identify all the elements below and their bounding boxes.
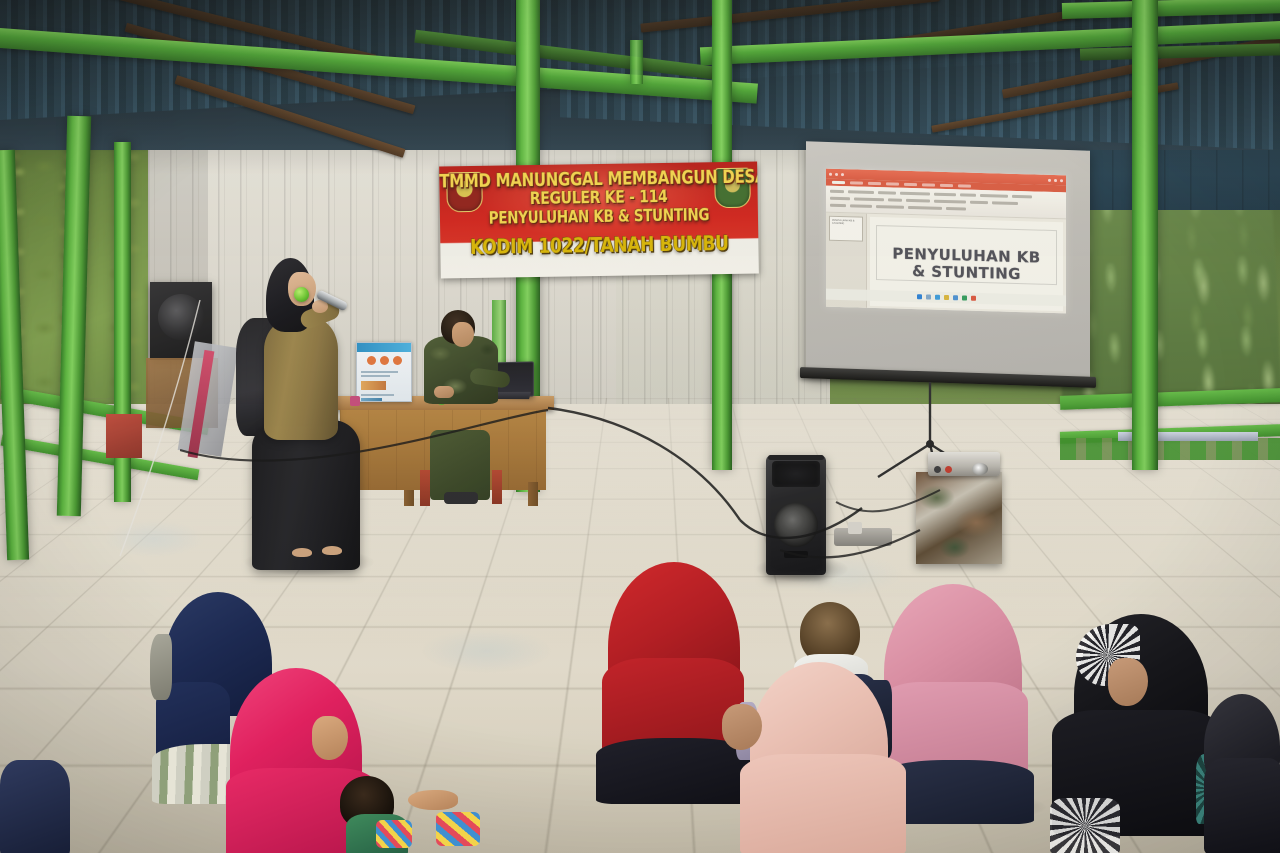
ribbon-control[interactable] bbox=[878, 191, 896, 195]
ribbon-control[interactable] bbox=[848, 190, 874, 194]
navy-attendee-shoulder bbox=[150, 634, 172, 700]
slide-thumbnail-1[interactable]: PENYULUHAN KB & STUNTING bbox=[829, 216, 863, 242]
mail-icon[interactable] bbox=[953, 295, 958, 300]
poster-header-band bbox=[357, 343, 411, 352]
save-icon[interactable] bbox=[829, 172, 832, 175]
edge-icon[interactable] bbox=[935, 295, 940, 300]
ribbon-control[interactable] bbox=[830, 197, 850, 201]
minimize-icon[interactable] bbox=[1048, 178, 1051, 181]
attendee-magenta-hijab bbox=[226, 668, 396, 853]
attendee-left-edge bbox=[0, 760, 70, 853]
left-edge-body bbox=[0, 760, 70, 853]
store-icon[interactable] bbox=[962, 295, 967, 300]
ribbon-control[interactable] bbox=[960, 193, 976, 196]
tab-slideshow[interactable] bbox=[940, 184, 953, 187]
ribbon-control[interactable] bbox=[970, 201, 988, 205]
microphone-windscreen bbox=[294, 287, 309, 302]
ribbon-control[interactable] bbox=[876, 205, 904, 209]
hanging-wire-left bbox=[60, 300, 260, 560]
attendee-far-right bbox=[1204, 694, 1280, 853]
ribbon-control[interactable] bbox=[906, 199, 930, 203]
post-short-upper bbox=[630, 40, 643, 84]
attendee-lightpink-hijab bbox=[740, 662, 912, 853]
toy-packet-floor bbox=[436, 812, 480, 846]
floor-cables bbox=[180, 390, 960, 590]
ribbon-control[interactable] bbox=[992, 201, 1018, 205]
event-banner: TMMD MANUNGGAL MEMBANGUN DESA REGULER KE… bbox=[439, 162, 759, 279]
tab-animations[interactable] bbox=[922, 183, 935, 186]
slide-title-text: PENYULUHAN KB & STUNTING bbox=[892, 245, 1040, 283]
ribbon-control[interactable] bbox=[830, 190, 844, 193]
ribbon-control[interactable] bbox=[900, 192, 930, 196]
ribbon-control[interactable] bbox=[888, 198, 902, 201]
tab-transitions[interactable] bbox=[904, 183, 917, 186]
tab-file[interactable] bbox=[832, 181, 845, 184]
tab-view[interactable] bbox=[958, 184, 971, 187]
child-snack-packet bbox=[376, 820, 412, 848]
poster-icon-1 bbox=[367, 356, 376, 365]
post-right bbox=[1132, 0, 1158, 470]
ribbon-control[interactable] bbox=[854, 197, 884, 201]
photo-scene: TMMD MANUNGGAL MEMBANGUN DESA REGULER KE… bbox=[0, 0, 1280, 853]
ribbon-control[interactable] bbox=[908, 206, 942, 210]
ribbon-control[interactable] bbox=[980, 194, 1008, 198]
ribbon-control[interactable] bbox=[934, 193, 956, 197]
ribbon-control[interactable] bbox=[1012, 195, 1032, 199]
close-icon[interactable] bbox=[1060, 179, 1063, 182]
ribbon-control[interactable] bbox=[946, 207, 966, 211]
child-hand-reaching bbox=[408, 790, 458, 810]
ribbon-control[interactable] bbox=[850, 204, 872, 208]
maximize-icon[interactable] bbox=[1054, 179, 1057, 182]
ribbon-control[interactable] bbox=[830, 204, 846, 207]
railing-right-slats bbox=[1060, 438, 1280, 460]
ribbon-control[interactable] bbox=[934, 200, 966, 204]
far-right-body bbox=[1204, 758, 1280, 853]
undo-icon[interactable] bbox=[835, 172, 838, 175]
folder-icon[interactable] bbox=[944, 295, 949, 300]
attendee-black-hijab bbox=[1050, 614, 1230, 853]
lightpink-hijab-drape bbox=[740, 754, 906, 853]
attendee-red-hijab bbox=[596, 562, 756, 802]
tab-design[interactable] bbox=[886, 182, 899, 185]
banner-line-4: KODIM 1022/TANAH BUMBU bbox=[440, 231, 758, 260]
redo-icon[interactable] bbox=[841, 173, 844, 176]
poster-icon-2 bbox=[380, 356, 389, 365]
tab-insert[interactable] bbox=[868, 182, 881, 185]
windows-icon[interactable] bbox=[917, 294, 922, 299]
projector-lens bbox=[972, 463, 988, 475]
tab-home[interactable] bbox=[850, 181, 863, 184]
powerpoint-icon[interactable] bbox=[971, 296, 976, 301]
patterned-sleeve bbox=[1050, 798, 1120, 853]
search-icon[interactable] bbox=[926, 294, 931, 299]
poster-icon-3 bbox=[393, 356, 402, 365]
